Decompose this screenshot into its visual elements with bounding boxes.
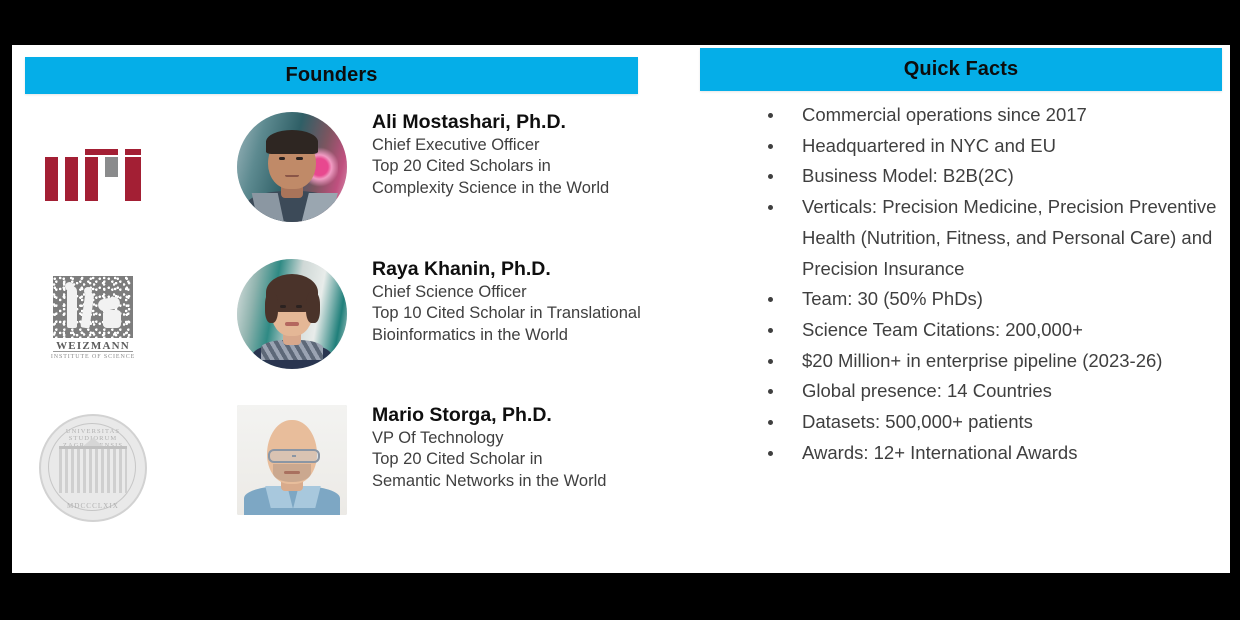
weizmann-logo: WEIZMANN INSTITUTE OF SCIENCE	[34, 263, 152, 381]
quick-fact-text: Business Model: B2B(2C)	[802, 161, 1230, 192]
quick-fact-item: Verticals: Precision Medicine, Precision…	[700, 192, 1230, 284]
bullet-icon	[768, 420, 773, 425]
slide-frame: Founders	[0, 0, 1240, 620]
quick-fact-item: $20 Million+ in enterprise pipeline (202…	[700, 346, 1230, 377]
mit-bar-3	[85, 157, 98, 201]
mit-bar-7	[125, 157, 141, 201]
slide-canvas: Founders	[12, 45, 1230, 573]
quick-fact-item: Global presence: 14 Countries	[700, 376, 1230, 407]
quick-fact-item: Headquartered in NYC and EU	[700, 131, 1230, 162]
bullet-icon	[768, 113, 773, 118]
founder-row: Ali Mostashari, Ph.D. Chief Executive Of…	[12, 110, 672, 255]
bullet-icon	[768, 205, 773, 210]
quick-fact-text: Commercial operations since 2017	[802, 100, 1230, 131]
mit-logo	[34, 116, 152, 234]
portrait-hair-side-right	[306, 292, 319, 323]
quick-fact-text: Headquartered in NYC and EU	[802, 131, 1230, 162]
portrait-lapel-left	[251, 193, 284, 222]
founder-detail-line-2: Bioinformatics in the World	[372, 325, 672, 346]
zagreb-seal-mark: UNIVERSITAS STUDIORUM ZAGRABIENSIS MDCCC…	[39, 414, 147, 522]
quick-fact-item: Awards: 12+ International Awards	[700, 438, 1230, 469]
mit-bar-6	[125, 149, 141, 155]
bullet-icon	[768, 389, 773, 394]
quick-fact-item: Business Model: B2B(2C)	[700, 161, 1230, 192]
founder-text-block: Raya Khanin, Ph.D. Chief Science Officer…	[372, 257, 672, 346]
zagreb-seal-bottom-text: MDCCCLXIX	[41, 502, 145, 510]
bullet-icon	[768, 297, 773, 302]
zagreb-seal-building	[59, 446, 127, 493]
mit-bar-gray	[105, 157, 118, 177]
quick-facts-header-label: Quick Facts	[904, 58, 1018, 81]
bullet-icon	[768, 451, 773, 456]
bullet-icon	[768, 174, 773, 179]
founders-header-label: Founders	[286, 64, 378, 87]
quick-fact-text: $20 Million+ in enterprise pipeline (202…	[802, 346, 1230, 377]
quick-fact-text: Awards: 12+ International Awards	[802, 438, 1230, 469]
mit-bar-1	[45, 157, 58, 201]
weizmann-wordmark: WEIZMANN	[49, 340, 137, 352]
weizmann-logo-mark: WEIZMANN INSTITUTE OF SCIENCE	[49, 276, 137, 368]
portrait-raya-khanin	[237, 259, 347, 369]
founder-name: Raya Khanin, Ph.D.	[372, 257, 672, 282]
founders-panel: Ali Mostashari, Ph.D. Chief Executive Of…	[12, 100, 672, 570]
quick-fact-text: Datasets: 500,000+ patients	[802, 407, 1230, 438]
portrait-hair-side-left	[265, 292, 278, 323]
quick-fact-item: Datasets: 500,000+ patients	[700, 407, 1230, 438]
quick-fact-text: Team: 30 (50% PhDs)	[802, 284, 1230, 315]
mit-bar-2	[65, 157, 78, 201]
founder-row: WEIZMANN INSTITUTE OF SCIENCE	[12, 257, 672, 402]
weizmann-figure-head-2	[84, 287, 92, 295]
weizmann-emblem-plate	[53, 276, 133, 338]
founder-detail-line-1: Top 20 Cited Scholars in	[372, 156, 672, 177]
weizmann-figure-head-1	[65, 282, 74, 291]
founder-row: UNIVERSITAS STUDIORUM ZAGRABIENSIS MDCCC…	[12, 403, 672, 548]
quick-fact-item: Science Team Citations: 200,000+	[700, 315, 1230, 346]
mit-logo-mark	[45, 149, 141, 201]
quick-fact-text: Global presence: 14 Countries	[802, 376, 1230, 407]
quick-facts-header-bar: Quick Facts	[700, 48, 1222, 91]
zagreb-seal-logo: UNIVERSITAS STUDIORUM ZAGRABIENSIS MDCCC…	[34, 409, 152, 527]
portrait-mouth	[284, 471, 299, 474]
founder-name: Ali Mostashari, Ph.D.	[372, 110, 672, 135]
bullet-icon	[768, 359, 773, 364]
portrait-eye-right	[296, 157, 303, 160]
quick-fact-text: Science Team Citations: 200,000+	[802, 315, 1230, 346]
founder-title: VP Of Technology	[372, 428, 672, 449]
founder-detail-line-2: Semantic Networks in the World	[372, 471, 672, 492]
bullet-icon	[768, 328, 773, 333]
portrait-glasses	[268, 449, 320, 463]
bullet-icon	[768, 144, 773, 149]
quick-fact-item: Commercial operations since 2017	[700, 100, 1230, 131]
founder-name: Mario Storga, Ph.D.	[372, 403, 672, 428]
portrait-mouth	[285, 322, 298, 326]
founder-text-block: Mario Storga, Ph.D. VP Of Technology Top…	[372, 403, 672, 492]
portrait-hair	[266, 130, 319, 154]
founder-detail-line-1: Top 10 Cited Scholar in Translational	[372, 303, 672, 324]
quick-facts-panel: Commercial operations since 2017 Headqua…	[700, 100, 1230, 468]
founder-title: Chief Science Officer	[372, 282, 672, 303]
founder-text-block: Ali Mostashari, Ph.D. Chief Executive Of…	[372, 110, 672, 199]
weizmann-figure-4	[103, 310, 121, 328]
weizmann-figure-2	[81, 292, 95, 329]
founder-detail-line-1: Top 20 Cited Scholar in	[372, 449, 672, 470]
quick-fact-text: Verticals: Precision Medicine, Precision…	[802, 192, 1230, 284]
weizmann-subtitle: INSTITUTE OF SCIENCE	[49, 354, 137, 360]
founder-title: Chief Executive Officer	[372, 135, 672, 156]
portrait-mario-storga	[237, 405, 347, 515]
founder-detail-line-2: Complexity Science in the World	[372, 178, 672, 199]
founders-header-bar: Founders	[25, 57, 638, 94]
portrait-ali-mostashari	[237, 112, 347, 222]
mit-bar-4	[85, 149, 118, 155]
quick-fact-item: Team: 30 (50% PhDs)	[700, 284, 1230, 315]
weizmann-figure-1	[67, 286, 77, 328]
